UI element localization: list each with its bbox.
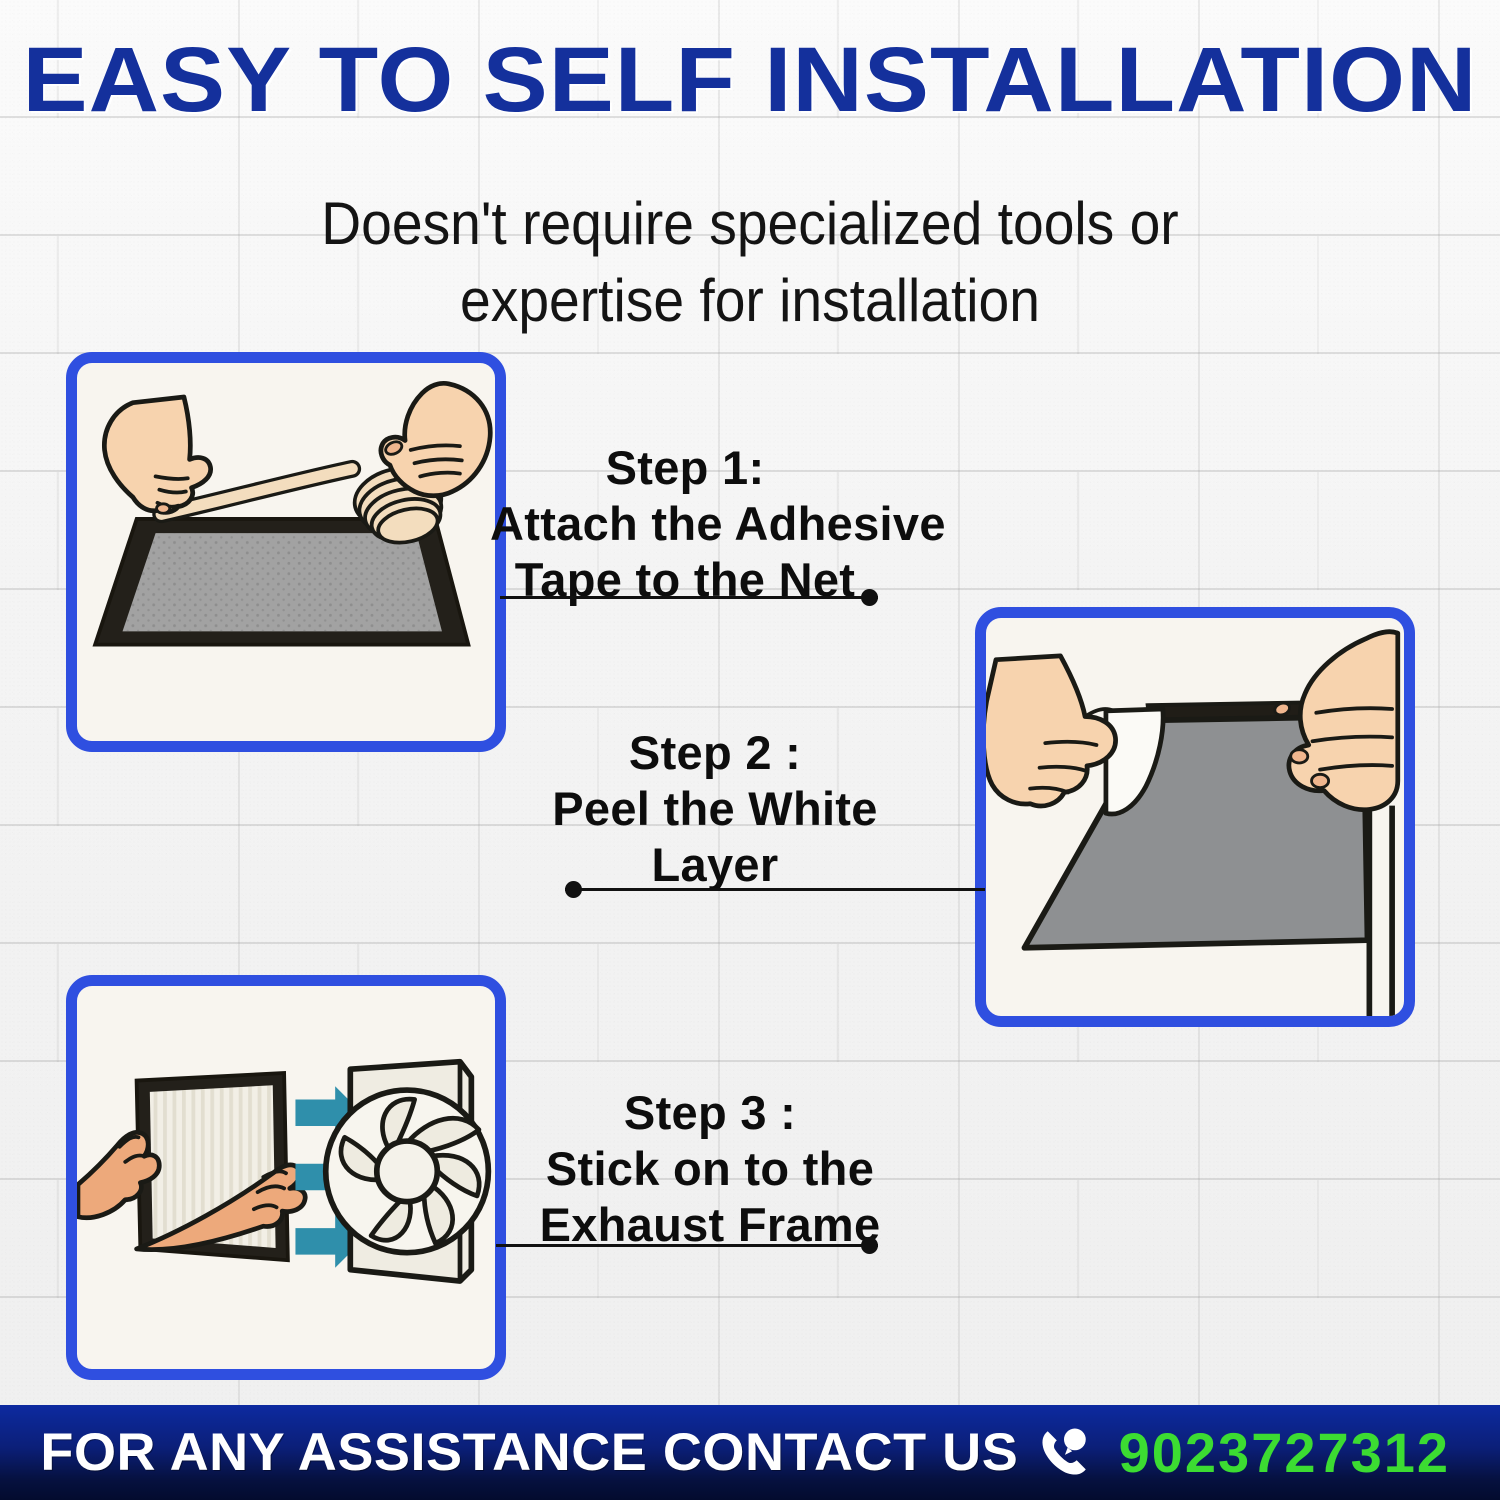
illustration-panel-step-3 <box>66 975 506 1380</box>
connector-dot <box>861 1237 878 1254</box>
connector-line-step-3 <box>496 1236 878 1254</box>
illustration-panel-step-1 <box>66 352 506 752</box>
connector-line-step-1 <box>500 588 878 606</box>
contact-bar-text: FOR ANY ASSISTANCE CONTACT US <box>40 1422 1018 1483</box>
step-1-line-2: Attach the Adhesive <box>490 496 880 552</box>
subtitle-line-2: expertise for installation <box>235 263 1265 340</box>
page-subtitle: Doesn't require specialized tools or exp… <box>235 186 1265 340</box>
step-1-line-1: Step 1: <box>490 440 880 496</box>
subtitle-line-1: Doesn't require specialized tools or <box>235 186 1265 263</box>
connector-bar <box>500 596 878 599</box>
illustration-panel-step-2 <box>975 607 1415 1027</box>
art-hands-peeling-white-layer <box>986 618 1404 1016</box>
step-label-1: Step 1: Attach the Adhesive Tape to the … <box>490 440 880 608</box>
art-hands-pulling-adhesive-tape <box>77 363 495 741</box>
art-filter-onto-exhaust-fan <box>77 986 495 1369</box>
connector-bar <box>496 1244 878 1247</box>
step-2-line-1: Step 2 : <box>540 725 890 781</box>
step-2-line-2: Peel the White <box>540 781 890 837</box>
step-label-2: Step 2 : Peel the White Layer <box>540 725 890 893</box>
phone-number[interactable]: 9023727312 <box>1119 1420 1450 1485</box>
step-3-line-1: Step 3 : <box>530 1085 890 1141</box>
infographic-poster: EASY TO SELF INSTALLATION Doesn't requir… <box>0 0 1500 1500</box>
step-label-3: Step 3 : Stick on to the Exhaust Frame <box>530 1085 890 1253</box>
connector-dot <box>565 881 582 898</box>
connector-bar <box>565 888 985 891</box>
page-title: EASY TO SELF INSTALLATION <box>0 34 1500 126</box>
contact-bar: FOR ANY ASSISTANCE CONTACT US 9023727312 <box>0 1405 1500 1500</box>
step-3-line-2: Stick on to the <box>530 1141 890 1197</box>
connector-line-step-2 <box>565 880 985 898</box>
connector-dot <box>861 589 878 606</box>
phone-call-icon <box>1035 1424 1093 1482</box>
